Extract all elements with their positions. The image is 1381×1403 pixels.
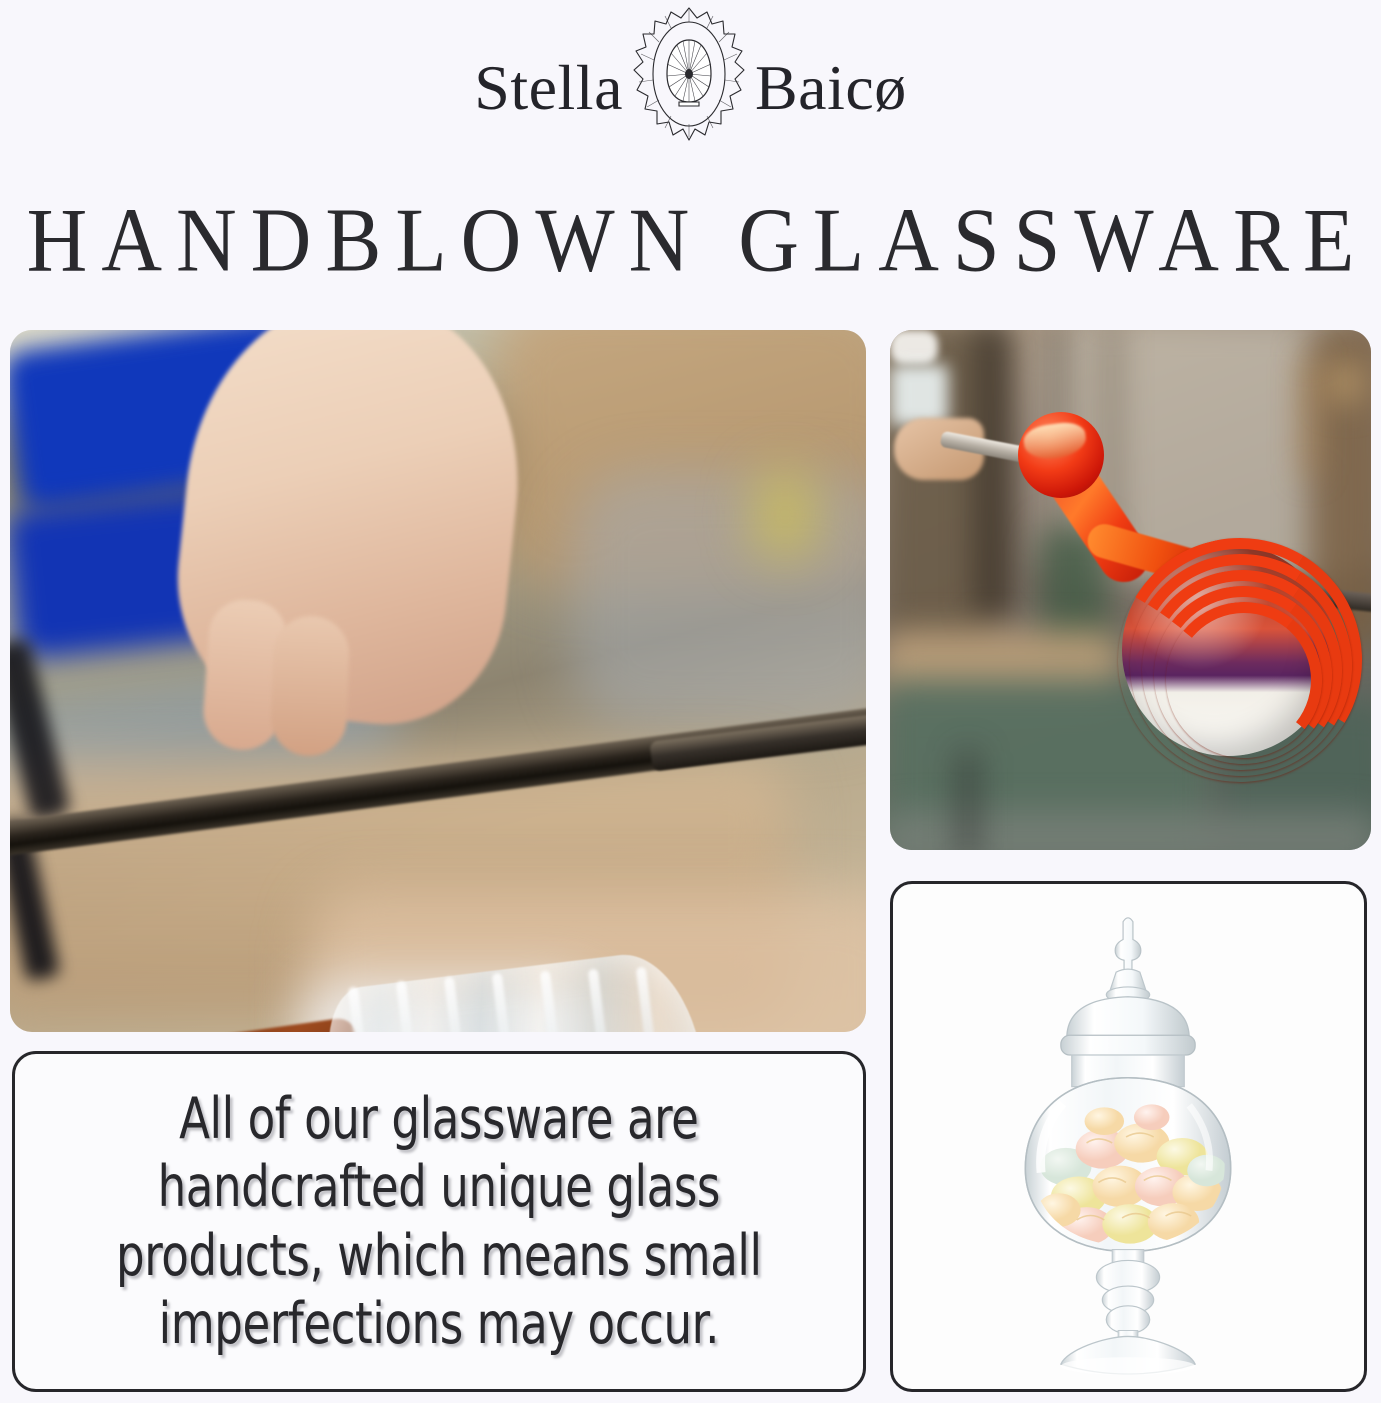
photo-bottle-label (890, 364, 948, 426)
apothecary-jar-illustration (893, 884, 1364, 1389)
photo-bg-blur (960, 750, 976, 850)
photo-bg-blur (570, 470, 866, 730)
photo-bg-blur (1324, 362, 1366, 404)
photo-hanging-lamp (890, 330, 938, 364)
photo-finger (270, 615, 351, 758)
page-title: HANDBLOWN GLASSWARE (0, 196, 1381, 287)
brand-name-right: Baicø (755, 56, 907, 120)
handblown-glassware-banner: Stella (0, 0, 1381, 1403)
oval-sunburst-emblem-icon (629, 4, 749, 172)
disclaimer-text: All of our glassware are handcrafted uni… (116, 1085, 762, 1359)
brand-logo: Stella (0, 0, 1381, 175)
photo-molten-red-glass-coil (890, 330, 1371, 850)
photo-apothecary-jar-with-candy (890, 881, 1367, 1392)
brand-name-left: Stella (474, 56, 623, 120)
photo-glassblower-shaping-vessel (10, 330, 866, 1032)
photo-bg-blur (755, 470, 815, 560)
photo-bg-blur (976, 330, 1010, 620)
photo-bg-blur (1304, 356, 1314, 476)
disclaimer-card: All of our glassware are handcrafted uni… (12, 1051, 866, 1392)
